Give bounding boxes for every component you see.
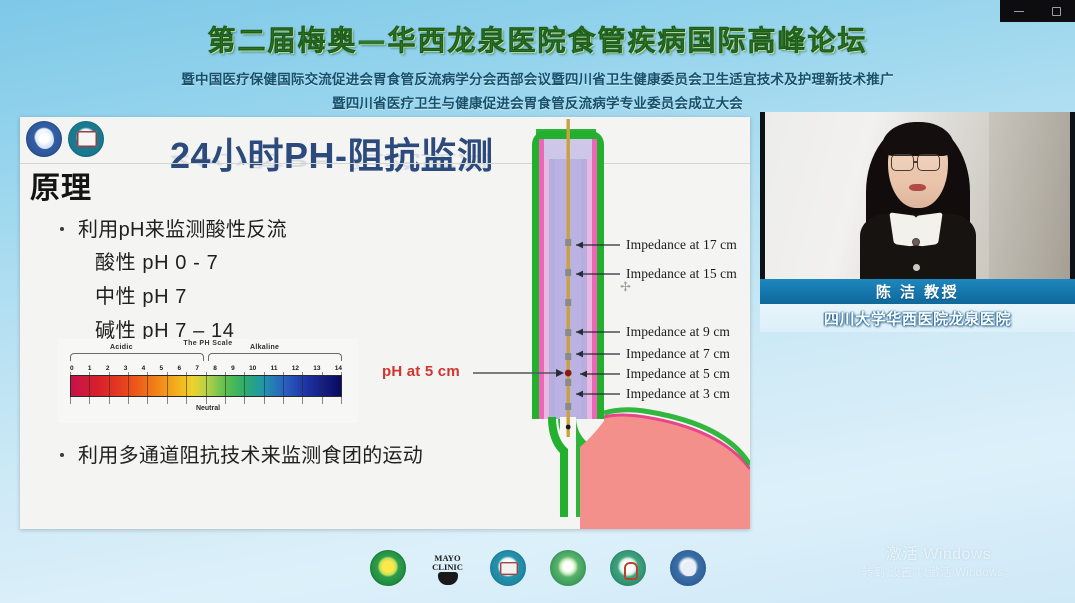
impedance-label-7cm: Impedance at 7 cm	[626, 346, 730, 362]
acidic-label: Acidic	[110, 344, 133, 351]
ph-gridline	[128, 372, 129, 404]
ph-scale-title: The PH Scale	[58, 340, 358, 347]
slide-divider	[20, 163, 750, 164]
slide-org-logos	[26, 121, 104, 157]
neutral-label: Neutral	[58, 405, 358, 412]
participant-video-panel[interactable]: 陈 洁 教授 四川大学华西医院龙泉医院	[760, 112, 1075, 332]
windows-activation-watermark: 激活 Windows 转到“设置”以激活 Windows。	[862, 545, 1015, 581]
shirt-button-2	[913, 264, 920, 271]
ph-scale-figure: The PH Scale Acidic Alkaline 0 1 2 3 4 5…	[58, 339, 358, 423]
window-controls	[1000, 0, 1075, 22]
impedance-label-15cm: Impedance at 15 cm	[626, 266, 737, 282]
ph-gridline	[167, 372, 168, 404]
sponsor-logo-1-icon	[370, 550, 406, 586]
video-letterbox-right	[1070, 112, 1075, 279]
organization-logo-2-icon	[68, 121, 104, 157]
bullet-1-label: 利用pH来监测酸性反流	[78, 213, 287, 242]
impedance-label-9cm: Impedance at 9 cm	[626, 324, 730, 340]
sponsor-logo-4-icon	[550, 550, 586, 586]
ph-gridline	[341, 372, 342, 404]
ph-at-5cm-callout: pH at 5 cm	[382, 363, 460, 380]
restore-button[interactable]	[1041, 0, 1071, 22]
ph-gridline	[206, 372, 207, 404]
alkaline-label: Alkaline	[250, 344, 279, 351]
ph-range-acidic: 酸性 pH 0 - 7	[95, 246, 218, 275]
mayo-clinic-logo-icon: MAYO CLINIC	[430, 550, 466, 586]
event-subtitle-line-1: 暨中国医疗保健国际交流促进会胃食管反流病学分会西部会议暨四川省卫生健康委员会卫生…	[0, 68, 1075, 88]
minimize-button[interactable]	[1004, 0, 1034, 22]
ph-gridline	[264, 372, 265, 404]
speaker-name: 陈 洁 教授	[876, 281, 959, 302]
acidic-brace	[70, 353, 204, 361]
slide-title: 24小时PH-阻抗监测	[170, 127, 494, 179]
mayo-shield-icon	[438, 572, 458, 585]
slide-section-heading: 原理	[30, 163, 92, 207]
shirt-button-1	[912, 238, 920, 246]
impedance-label-17cm: Impedance at 17 cm	[626, 237, 737, 253]
glasses-left-lens-icon	[891, 154, 914, 171]
watermark-subtitle: 转到“设置”以激活 Windows。	[862, 565, 1015, 581]
bullet-dot-icon	[60, 453, 64, 457]
hair-front	[882, 122, 954, 156]
alkaline-brace	[208, 353, 342, 361]
ph-gridline	[283, 372, 284, 404]
ph-gridline	[302, 372, 303, 404]
video-background-wall	[989, 112, 1075, 279]
event-subtitle-line-2: 暨四川省医疗卫生与健康促进会胃食管反流病学专业委员会成立大会	[0, 92, 1075, 112]
sponsor-logo-6-icon	[670, 550, 706, 586]
ph-gridline	[147, 372, 148, 404]
event-title: 第二届梅奥—华西龙泉医院食管疾病国际高峰论坛	[0, 19, 1075, 59]
presentation-slide[interactable]: 24小时PH-阻抗监测 24小时PH-阻抗监测 原理 利用pH来监测酸性反流 酸…	[20, 117, 750, 529]
ph-gridline	[244, 372, 245, 404]
event-header: 第二届梅奥—华西龙泉医院食管疾病国际高峰论坛 暨中国医疗保健国际交流促进会胃食管…	[0, 0, 1075, 112]
ph-gridline	[70, 372, 71, 404]
webcam-video-feed[interactable]	[760, 112, 1075, 279]
organization-logo-1-icon	[26, 121, 62, 157]
speaker-affiliation-bar: 四川大学华西医院龙泉医院	[760, 304, 1075, 332]
sponsor-logo-5-icon	[610, 550, 646, 586]
sponsor-logo-3-icon	[490, 550, 526, 586]
bullet-2-label: 利用多通道阻抗技术来监测食团的运动	[78, 439, 423, 468]
mouth	[909, 184, 926, 191]
video-letterbox-left	[760, 112, 765, 279]
bullet-dot-icon	[60, 227, 64, 231]
watermark-title: 激活 Windows	[862, 545, 1015, 565]
mouse-cursor-icon: ✢	[620, 280, 631, 293]
bullet-item-1: 利用pH来监测酸性反流	[60, 213, 287, 242]
glasses-right-lens-icon	[917, 154, 940, 171]
ph-gridline	[322, 372, 323, 404]
ph-range-neutral: 中性 pH 7	[95, 280, 187, 309]
ph-gridline	[89, 372, 90, 404]
speaker-name-bar: 陈 洁 教授	[760, 279, 1075, 304]
mayo-line-2: CLINIC	[432, 562, 463, 572]
ph-gridlines	[70, 372, 342, 404]
impedance-label-5cm: Impedance at 5 cm	[626, 366, 730, 382]
restore-icon	[1052, 7, 1061, 16]
speaker-affiliation: 四川大学华西医院龙泉医院	[824, 308, 1011, 329]
speaker-portrait	[856, 118, 980, 279]
minimize-icon	[1014, 11, 1024, 12]
ph-gridline	[186, 372, 187, 404]
glasses-bridge	[914, 161, 918, 163]
ph-gridline	[109, 372, 110, 404]
ph-gridline	[225, 372, 226, 404]
bullet-item-2: 利用多通道阻抗技术来监测食团的运动	[60, 439, 423, 468]
impedance-label-3cm: Impedance at 3 cm	[626, 386, 730, 402]
